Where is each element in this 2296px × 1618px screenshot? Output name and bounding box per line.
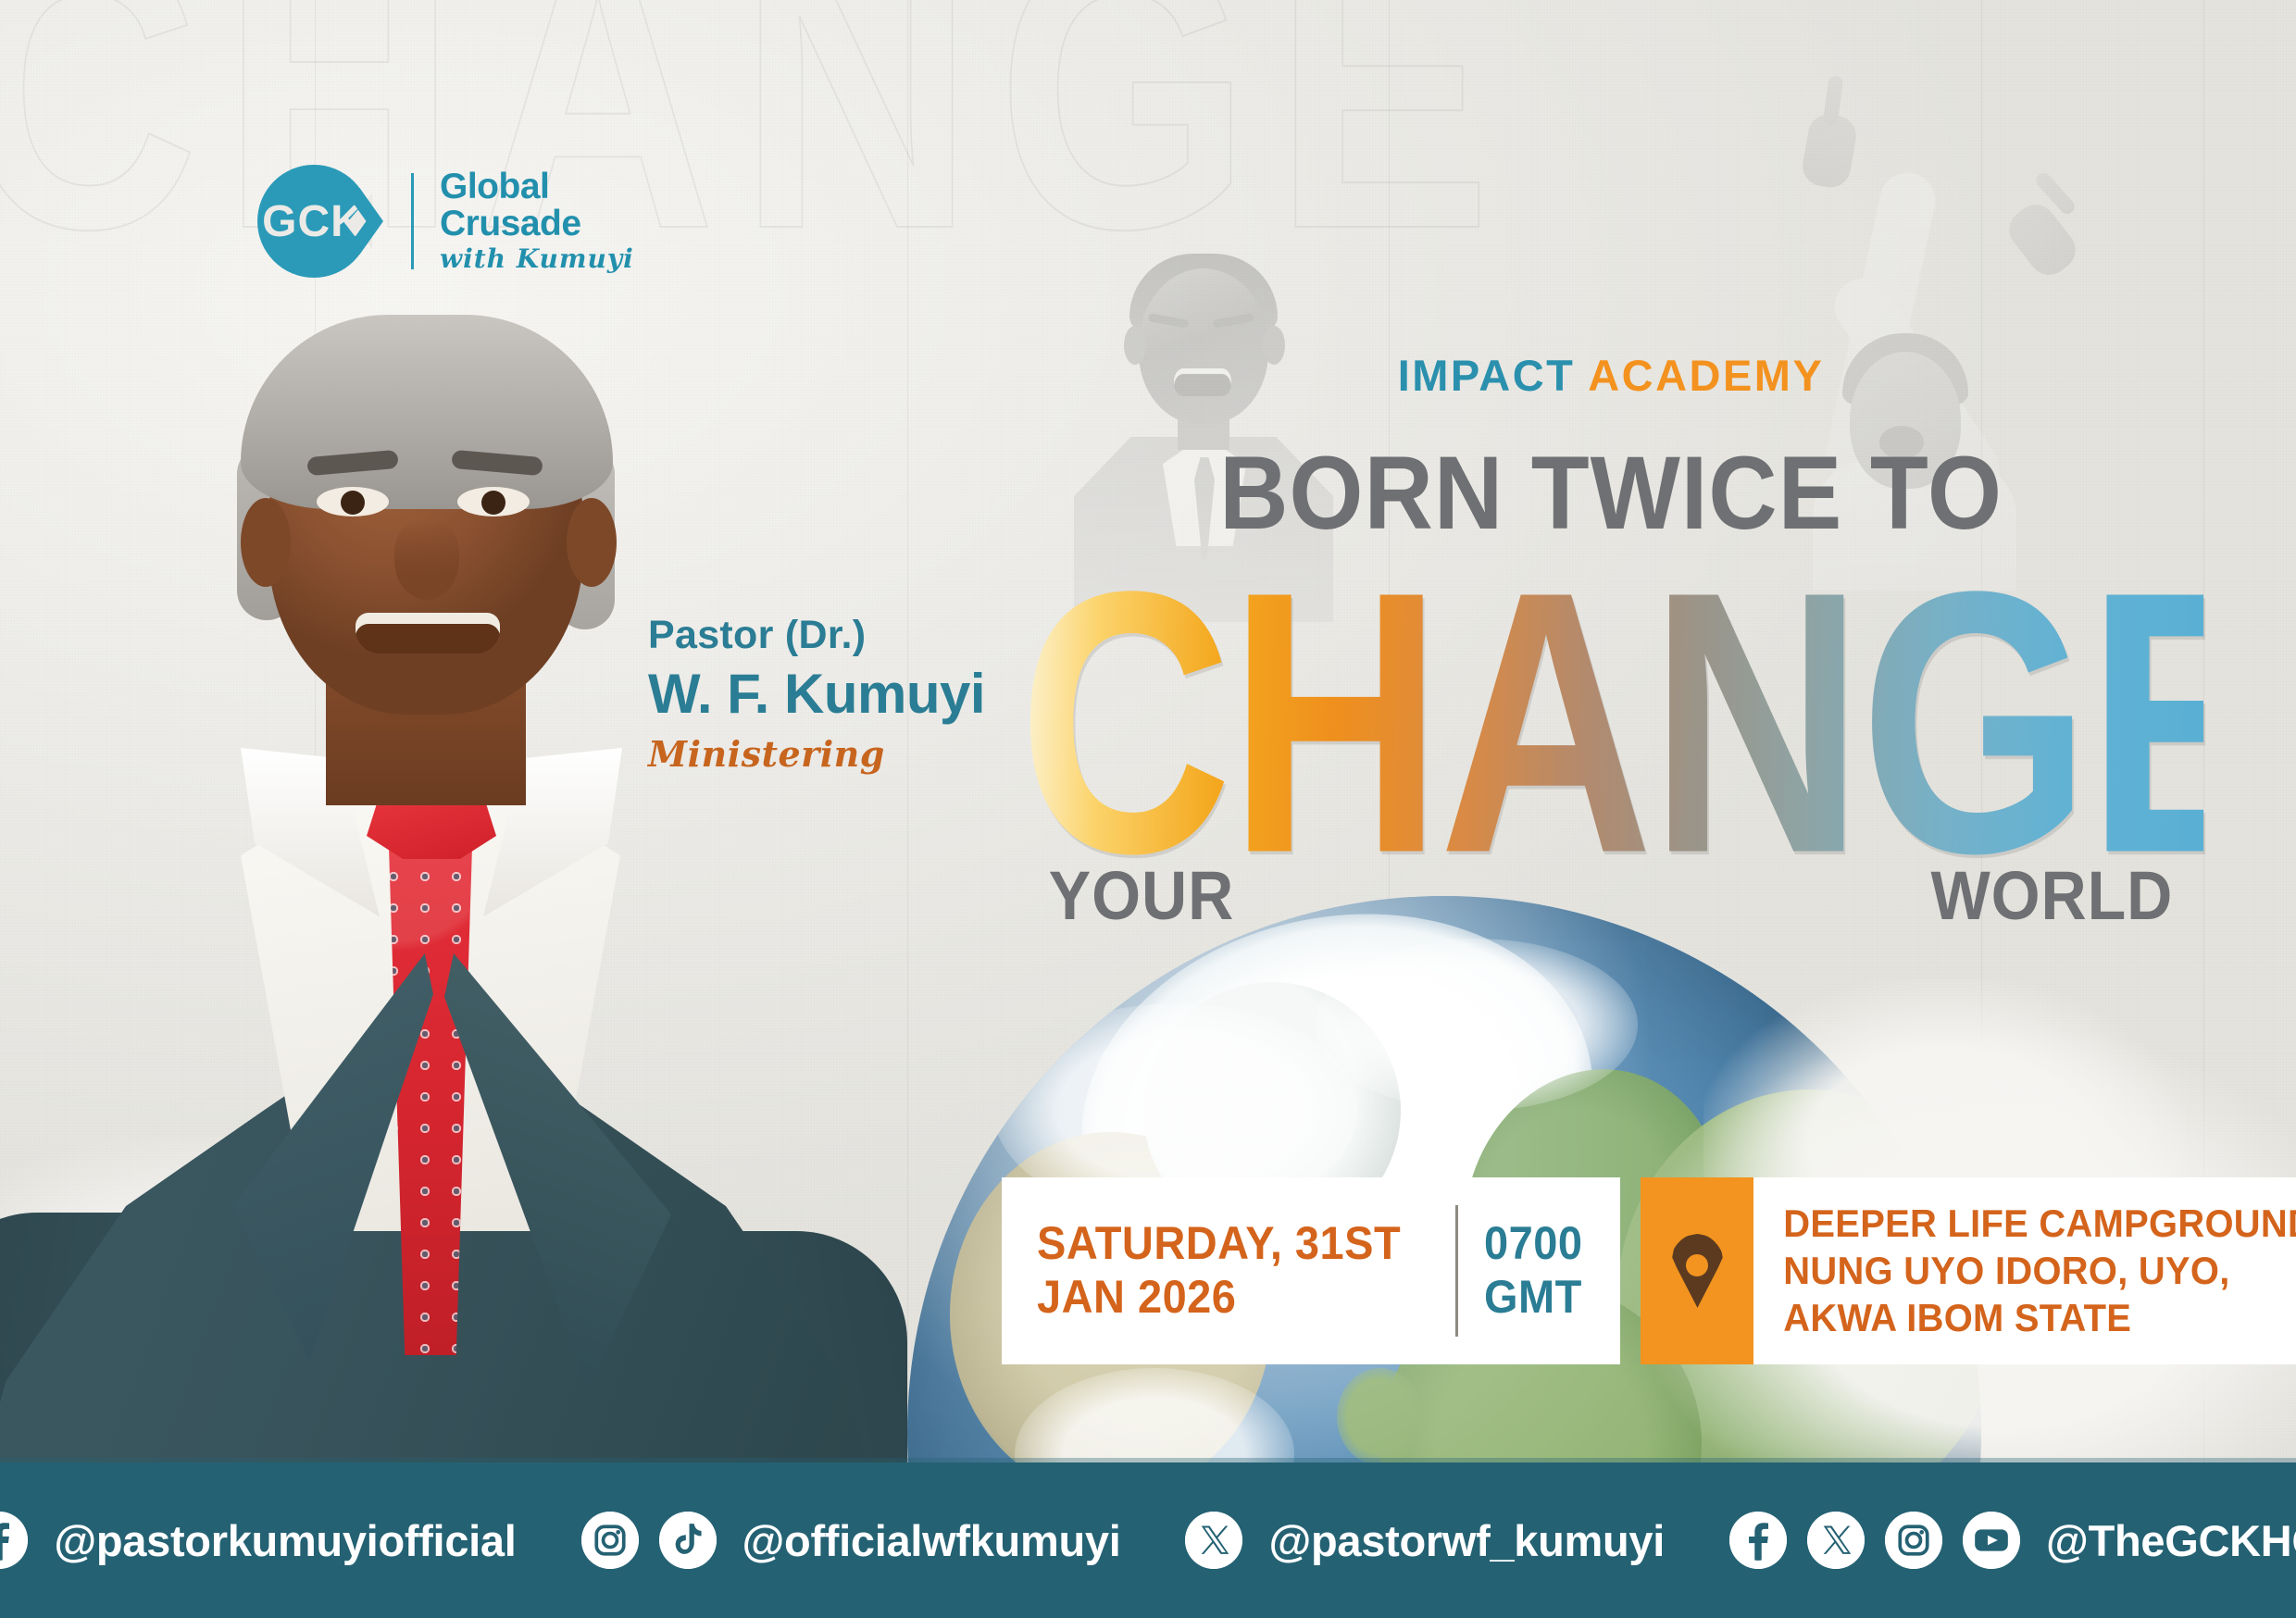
gck-logo-wordmark: Global Crusade with Kumuyi (440, 168, 634, 275)
event-location-text: DEEPER LIFE CAMPGROUND, NUNG UYO IDORO, … (1753, 1177, 2296, 1364)
social-handle-facebook[interactable]: @pastorkumuyiofficial (54, 1515, 516, 1566)
social-group-x[interactable]: @pastorwf_kumuyi (1185, 1512, 1665, 1569)
location-line-1: DEEPER LIFE CAMPGROUND, (1784, 1200, 2296, 1247)
social-group-gck[interactable]: @TheGCKHQ (1729, 1512, 2296, 1569)
event-time: 0700 GMT (1484, 1217, 1582, 1324)
location-pin-icon (1668, 1234, 1726, 1308)
logo-line-with-kumuyi: with Kumuyi (440, 243, 634, 274)
event-date: SATURDAY, 31ST JAN 2026 (1037, 1217, 1401, 1324)
kicker-impact: IMPACT (1398, 351, 1576, 400)
speaker-name-block: Pastor (Dr.) W. F. Kumuyi Ministering (648, 613, 985, 775)
x-twitter-icon[interactable] (1807, 1512, 1865, 1569)
logo-line-crusade: Crusade (440, 205, 634, 243)
event-time-value: 0700 (1484, 1217, 1582, 1271)
event-time-zone: GMT (1484, 1271, 1582, 1325)
headline-your: YOUR (1049, 856, 1234, 935)
datetime-divider (1455, 1205, 1458, 1337)
x-twitter-icon[interactable] (1185, 1512, 1242, 1569)
event-date-line-1: SATURDAY, 31ST (1037, 1217, 1401, 1271)
event-flyer: CHANGE (0, 0, 2296, 1618)
logo-divider (411, 173, 414, 269)
social-handle-x[interactable]: @pastorwf_kumuyi (1268, 1515, 1665, 1566)
location-line-3: AKWA IBOM STATE (1784, 1294, 2296, 1341)
gck-logo-mark: GCK (257, 165, 370, 278)
speaker-role: Ministering (648, 733, 985, 775)
background-watermark: CHANGE (0, 0, 1515, 245)
logo-line-global: Global (440, 168, 634, 205)
instagram-icon[interactable] (581, 1512, 639, 1569)
headline-line-3: YOUR WORLD (1049, 856, 2173, 935)
kicker-academy: ACADEMY (1588, 351, 1824, 400)
speaker-title: Pastor (Dr.) (648, 613, 985, 658)
facebook-icon[interactable] (1729, 1512, 1787, 1569)
location-line-2: NUNG UYO IDORO, UYO, (1784, 1247, 2296, 1294)
social-footer-bar: @pastorkumuyiofficial @officialwfkumuyi (0, 1462, 2296, 1618)
event-date-line-2: JAN 2026 (1037, 1271, 1401, 1325)
speaker-name: W. F. Kumuyi (648, 662, 985, 726)
social-handle-gck[interactable]: @TheGCKHQ (2046, 1515, 2296, 1566)
headline-line-change: CHANGE (1018, 551, 2203, 893)
tiktok-icon[interactable] (659, 1512, 717, 1569)
event-location-card: DEEPER LIFE CAMPGROUND, NUNG UYO IDORO, … (1641, 1177, 2296, 1364)
facebook-icon[interactable] (0, 1512, 28, 1569)
youtube-icon[interactable] (1963, 1512, 2020, 1569)
headline-block: IMPACT ACADEMY BORN TWICE TO CHANGE YOUR… (1000, 350, 2222, 935)
event-info-bar: SATURDAY, 31ST JAN 2026 0700 GMT DEEPER … (1002, 1177, 2296, 1364)
social-group-facebook[interactable]: @pastorkumuyiofficial (0, 1512, 517, 1569)
social-group-instagram-tiktok[interactable]: @officialwfkumuyi (581, 1512, 1121, 1569)
social-handle-instagram-tiktok[interactable]: @officialwfkumuyi (742, 1515, 1121, 1566)
headline-world: WORLD (1930, 856, 2173, 935)
pastor-portrait (0, 305, 907, 1618)
location-pin-badge (1641, 1177, 1753, 1364)
gck-logo[interactable]: GCK Global Crusade with Kumuyi (257, 165, 634, 278)
event-datetime-card: SATURDAY, 31ST JAN 2026 0700 GMT (1002, 1177, 1620, 1364)
instagram-icon[interactable] (1885, 1512, 1942, 1569)
event-kicker: IMPACT ACADEMY (1000, 350, 2222, 401)
